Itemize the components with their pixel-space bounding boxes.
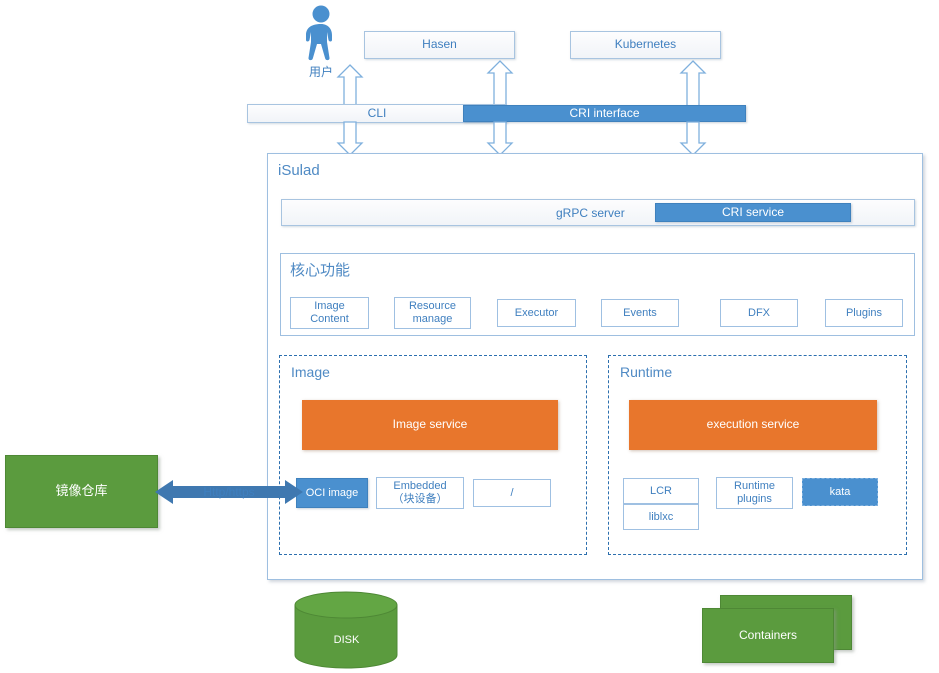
registry-box[interactable]: 镜像仓库: [5, 455, 158, 528]
image-backend-slash[interactable]: /: [473, 479, 551, 507]
grpc-server-label: gRPC server: [556, 206, 625, 220]
image-backend-oci-image[interactable]: OCI image: [296, 478, 368, 508]
diagram-canvas: 用户 Hasen Kubernetes CLI CRI interface: [0, 0, 939, 673]
client-box-kubernetes[interactable]: Kubernetes: [570, 31, 721, 59]
core-module-label-line1: Executor: [515, 307, 558, 320]
cri-service-box[interactable]: CRI service: [655, 203, 851, 222]
arrow-down-cri-to-isulad-right: [679, 122, 707, 156]
containers-label: Containers: [739, 629, 797, 643]
arrow-down-cli-to-isulad: [336, 122, 364, 156]
execution-service-box[interactable]: execution service: [629, 400, 877, 450]
containers-box-front[interactable]: Containers: [702, 608, 834, 663]
execution-service-label: execution service: [707, 418, 800, 432]
disk-label: DISK: [293, 634, 400, 646]
runtime-backend-label: liblxc: [649, 511, 673, 524]
arrow-up-cri-to-kubernetes: [679, 60, 707, 106]
core-module-label-line1: Events: [623, 307, 657, 320]
client-box-hasen[interactable]: Hasen: [364, 31, 515, 59]
interface-label-cli: CLI: [368, 107, 387, 121]
image-section-title: Image: [291, 364, 330, 380]
registry-link-label: Http/https: [155, 485, 303, 499]
arrow-up-cli-to-user: [336, 64, 364, 106]
image-backend-label: OCI image: [306, 487, 359, 500]
image-backend-label: /: [510, 487, 513, 500]
runtime-backend-kata[interactable]: kata: [802, 478, 878, 506]
core-module-label-line1: Image: [314, 300, 345, 313]
core-module-label-line1: Plugins: [846, 307, 882, 320]
arrow-up-cri-to-hasen: [486, 60, 514, 106]
image-service-box[interactable]: Image service: [302, 400, 558, 450]
client-label-kubernetes: Kubernetes: [615, 38, 676, 52]
runtime-backend-liblxc[interactable]: liblxc: [623, 504, 699, 530]
core-module-dfx[interactable]: DFX: [720, 299, 798, 327]
core-functions-title: 核心功能: [290, 259, 350, 280]
core-module-image-content[interactable]: Image Content: [290, 297, 369, 329]
image-backend-embedded[interactable]: Embedded （块设备）: [376, 477, 464, 509]
runtime-backend-label-line2: plugins: [737, 493, 772, 506]
interface-bar-cri[interactable]: CRI interface: [463, 105, 746, 122]
image-backend-label-line2: （块设备）: [393, 493, 448, 506]
core-functions-section: [280, 253, 915, 336]
cri-service-label: CRI service: [722, 206, 784, 220]
runtime-backend-label-line1: Runtime: [734, 480, 775, 493]
core-module-label-line1: Resource: [409, 300, 456, 313]
arrow-down-cri-to-isulad-left: [486, 122, 514, 156]
runtime-backend-label: kata: [830, 486, 851, 499]
core-module-label-line2: manage: [413, 313, 453, 326]
image-section: [279, 355, 587, 555]
core-module-executor[interactable]: Executor: [497, 299, 576, 327]
image-service-label: Image service: [393, 418, 468, 432]
registry-label: 镜像仓库: [55, 484, 107, 499]
runtime-section-title: Runtime: [620, 364, 672, 380]
core-module-resource-manage[interactable]: Resource manage: [394, 297, 471, 329]
isulad-title: iSulad: [278, 162, 320, 179]
image-backend-label-line1: Embedded: [393, 480, 446, 493]
core-module-label-line2: Content: [310, 313, 349, 326]
runtime-backend-runtime-plugins[interactable]: Runtime kata plugins: [716, 477, 793, 509]
runtime-backend-label: LCR: [650, 485, 672, 498]
interface-label-cri: CRI interface: [569, 107, 639, 121]
client-label-hasen: Hasen: [422, 38, 457, 52]
core-module-label-line1: DFX: [748, 307, 770, 320]
disk-cylinder: [293, 592, 400, 668]
person-icon: [298, 4, 344, 62]
core-module-plugins[interactable]: Plugins: [825, 299, 903, 327]
core-module-events[interactable]: Events: [601, 299, 679, 327]
runtime-backend-lcr[interactable]: LCR: [623, 478, 699, 504]
